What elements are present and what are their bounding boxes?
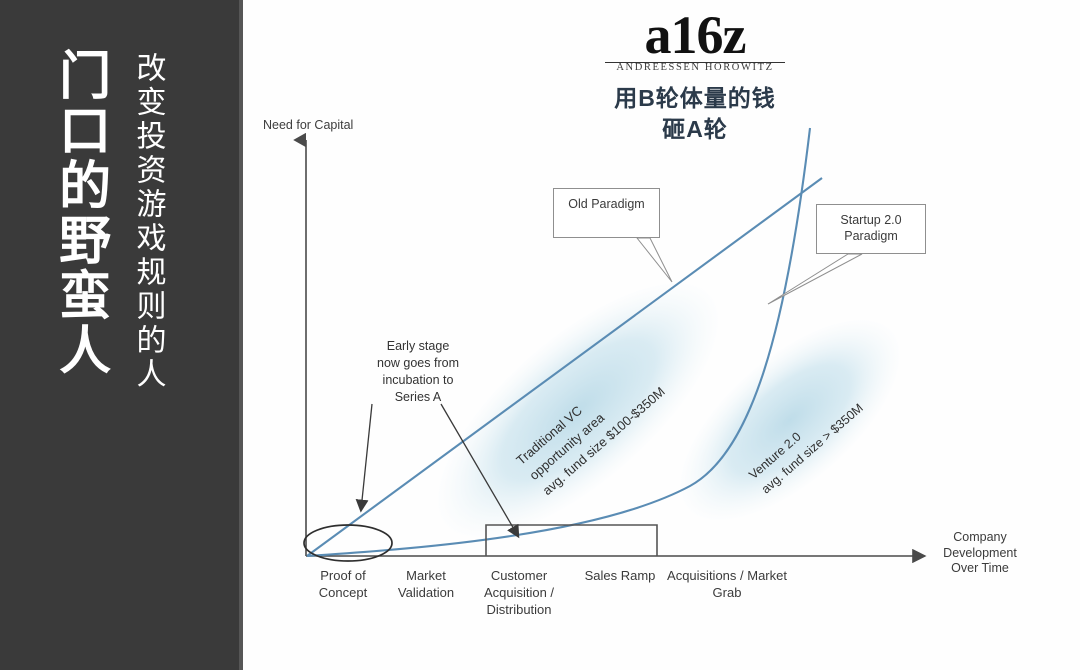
stage-label-acquisitions: Acquisitions / Market Grab [665,568,789,602]
stage-label-customer-acquisition: Customer Acquisition / Distribution [464,568,574,619]
x-axis-label: Company Development Over Time [925,530,1035,577]
stage-label-proof-of-concept: Proof of Concept [295,568,391,602]
a16z-logo: a16z [580,10,810,61]
callout-startup-20-paradigm: Startup 2.0 Paradigm [816,204,926,254]
logo-subtitle: ANDREESSEN HOROWITZ [580,62,810,73]
sidebar-title-main: 门口的野蛮人 [52,48,107,378]
sidebar-title-sub: 改变投资游戏规则的人 [132,52,164,392]
tagline-line-1: 用B轮体量的钱 [580,83,810,114]
tagline-line-2: 砸A轮 [580,114,810,145]
sidebar-panel: 门口的野蛮人 改变投资游戏规则的人 [0,0,243,670]
stage-label-market-validation: Market Validation [378,568,474,602]
brand-block: a16z ANDREESSEN HOROWITZ 用B轮体量的钱 砸A轮 [580,10,810,145]
slide-root: 门口的野蛮人 改变投资游戏规则的人 a16z ANDREESSEN HOROWI… [0,0,1080,670]
callout-old-paradigm: Old Paradigm [553,188,660,238]
stage-label-sales-ramp: Sales Ramp [580,568,660,585]
early-stage-note: Early stage now goes from incubation to … [363,338,473,406]
y-axis-label: Need for Capital [263,118,353,134]
